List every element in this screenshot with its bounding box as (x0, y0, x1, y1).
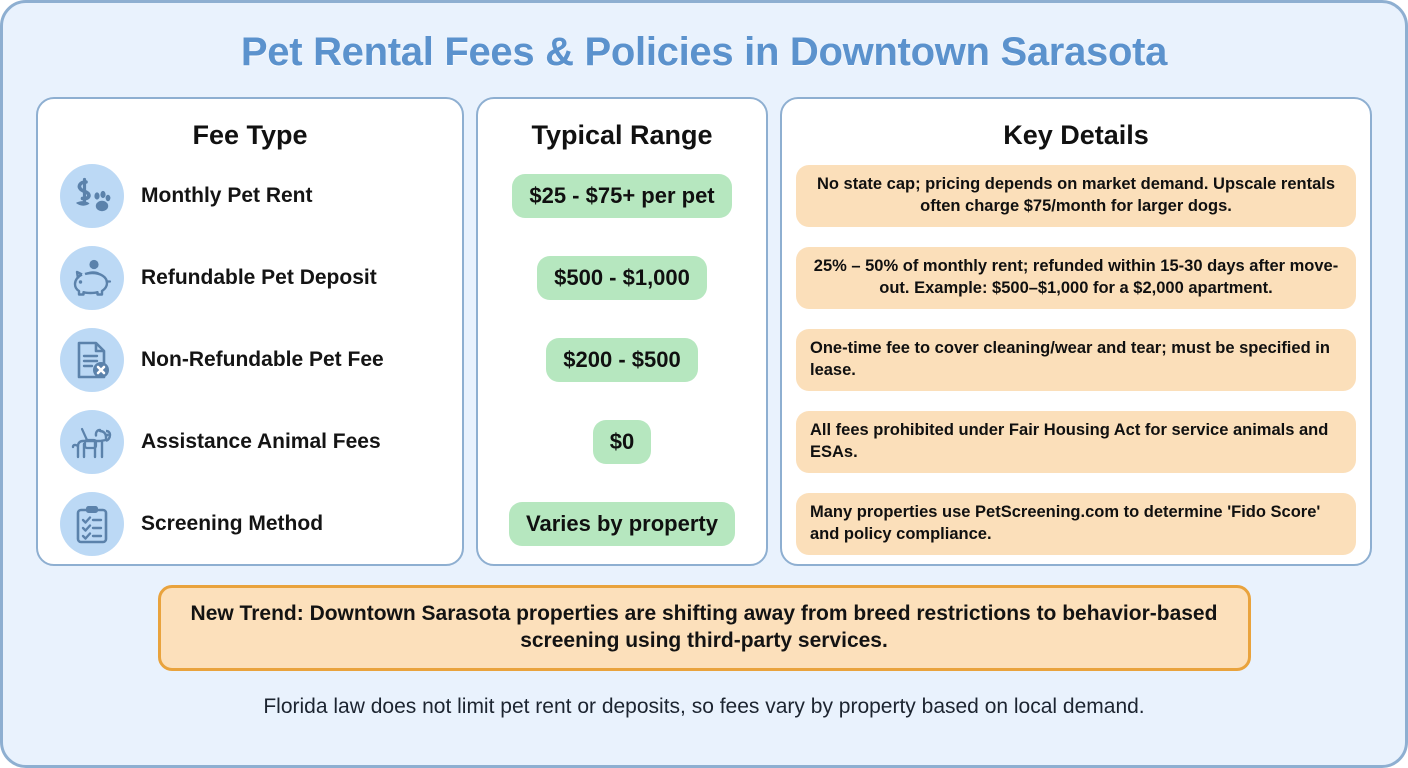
range-pill: $25 - $75+ per pet (512, 174, 731, 217)
detail-row: Many properties use PetScreening.com to … (796, 483, 1356, 565)
typical-range-list: $25 - $75+ per pet $500 - $1,000 $200 - … (492, 155, 752, 565)
key-details-list: No state cap; pricing depends on market … (796, 155, 1356, 565)
detail-row: 25% – 50% of monthly rent; refunded with… (796, 237, 1356, 319)
columns-container: Fee Type Monthly Pet (3, 74, 1405, 566)
fee-row-monthly-pet-rent: Monthly Pet Rent (52, 155, 448, 237)
typical-range-card: Typical Range $25 - $75+ per pet $500 - … (476, 97, 768, 566)
document-denied-icon (60, 328, 124, 392)
fee-type-label: Assistance Animal Fees (141, 430, 381, 454)
range-row: $25 - $75+ per pet (492, 155, 752, 237)
detail-text: One-time fee to cover cleaning/wear and … (796, 329, 1356, 391)
fee-type-label: Refundable Pet Deposit (141, 266, 377, 290)
footer-note: Florida law does not limit pet rent or d… (3, 671, 1405, 719)
range-pill: $200 - $500 (546, 338, 697, 381)
fee-type-label: Non-Refundable Pet Fee (141, 348, 384, 372)
range-row: $200 - $500 (492, 319, 752, 401)
detail-row: No state cap; pricing depends on market … (796, 155, 1356, 237)
range-pill: $500 - $1,000 (537, 256, 707, 299)
trend-banner: New Trend: Downtown Sarasota properties … (158, 585, 1251, 671)
service-dog-icon (60, 410, 124, 474)
fee-row-screening-method: Screening Method (52, 483, 448, 565)
range-pill: Varies by property (509, 502, 735, 545)
fee-row-refundable-pet-deposit: Refundable Pet Deposit (52, 237, 448, 319)
fee-type-card: Fee Type Monthly Pet (36, 97, 464, 566)
range-row: $0 (492, 401, 752, 483)
fee-type-label: Monthly Pet Rent (141, 184, 313, 208)
trend-banner-wrapper: New Trend: Downtown Sarasota properties … (3, 566, 1405, 671)
fee-type-list: Monthly Pet Rent Refundable Pet D (52, 155, 448, 565)
piggy-bank-icon (60, 246, 124, 310)
range-pill: $0 (593, 420, 651, 463)
fee-row-assistance-animal-fees: Assistance Animal Fees (52, 401, 448, 483)
range-row: $500 - $1,000 (492, 237, 752, 319)
detail-text: Many properties use PetScreening.com to … (796, 493, 1356, 555)
typical-range-header: Typical Range (492, 115, 752, 155)
fee-row-non-refundable-pet-fee: Non-Refundable Pet Fee (52, 319, 448, 401)
page-title: Pet Rental Fees & Policies in Downtown S… (3, 3, 1405, 74)
detail-text: 25% – 50% of monthly rent; refunded with… (796, 247, 1356, 309)
fee-type-label: Screening Method (141, 512, 323, 536)
detail-text: No state cap; pricing depends on market … (796, 165, 1356, 227)
key-details-card: Key Details No state cap; pricing depend… (780, 97, 1372, 566)
key-details-header: Key Details (796, 115, 1356, 155)
clipboard-checklist-icon (60, 492, 124, 556)
infographic-poster: Pet Rental Fees & Policies in Downtown S… (0, 0, 1408, 768)
detail-row: One-time fee to cover cleaning/wear and … (796, 319, 1356, 401)
dollar-paw-icon (60, 164, 124, 228)
range-row: Varies by property (492, 483, 752, 565)
detail-text: All fees prohibited under Fair Housing A… (796, 411, 1356, 473)
fee-type-header: Fee Type (52, 115, 448, 155)
detail-row: All fees prohibited under Fair Housing A… (796, 401, 1356, 483)
